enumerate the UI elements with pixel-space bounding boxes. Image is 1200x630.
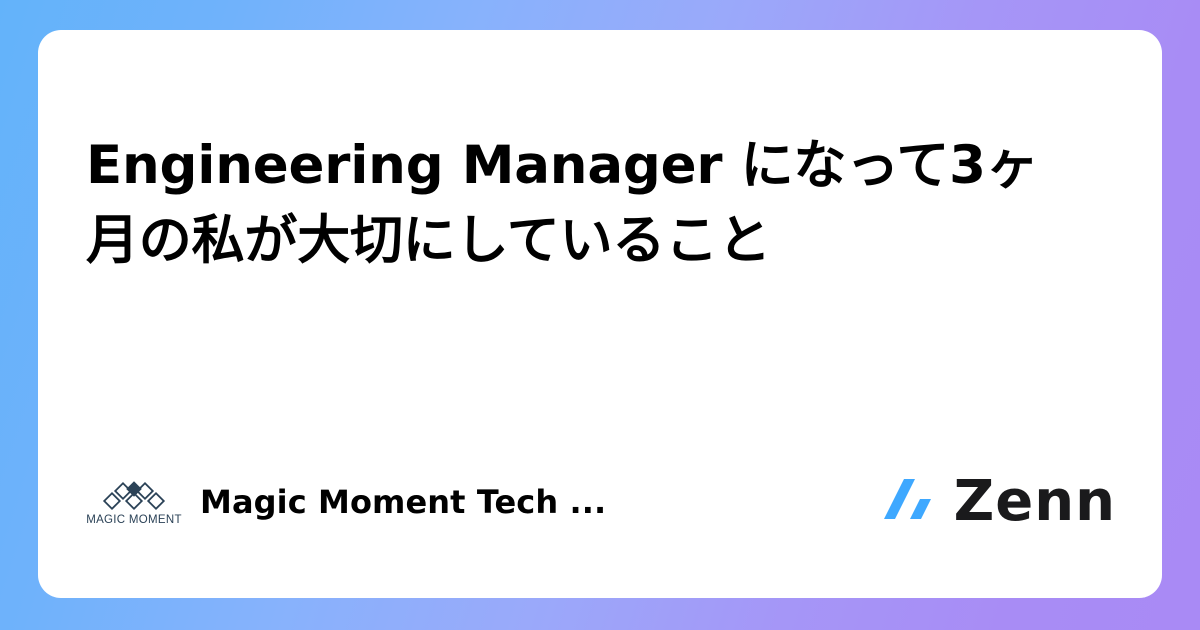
zenn-slash-icon xyxy=(882,471,940,534)
page-title: Engineering Manager になって3ヶ月の私が大切にしていること xyxy=(86,128,1086,279)
article-card: Engineering Manager になって3ヶ月の私が大切にしていること xyxy=(38,30,1162,598)
og-image-canvas: Engineering Manager になって3ヶ月の私が大切にしていること xyxy=(0,0,1200,630)
zenn-brand: Zenn xyxy=(882,471,1116,534)
zenn-wordmark: Zenn xyxy=(954,474,1116,530)
card-footer: MAGIC MOMENT Magic Moment Tech ... Zenn xyxy=(86,464,1122,540)
publication-name: Magic Moment Tech ... xyxy=(200,483,606,521)
publication-info: MAGIC MOMENT Magic Moment Tech ... xyxy=(86,473,606,531)
svg-text:MAGIC MOMENT: MAGIC MOMENT xyxy=(86,514,182,526)
magic-moment-diamonds-icon: MAGIC MOMENT xyxy=(86,473,182,531)
